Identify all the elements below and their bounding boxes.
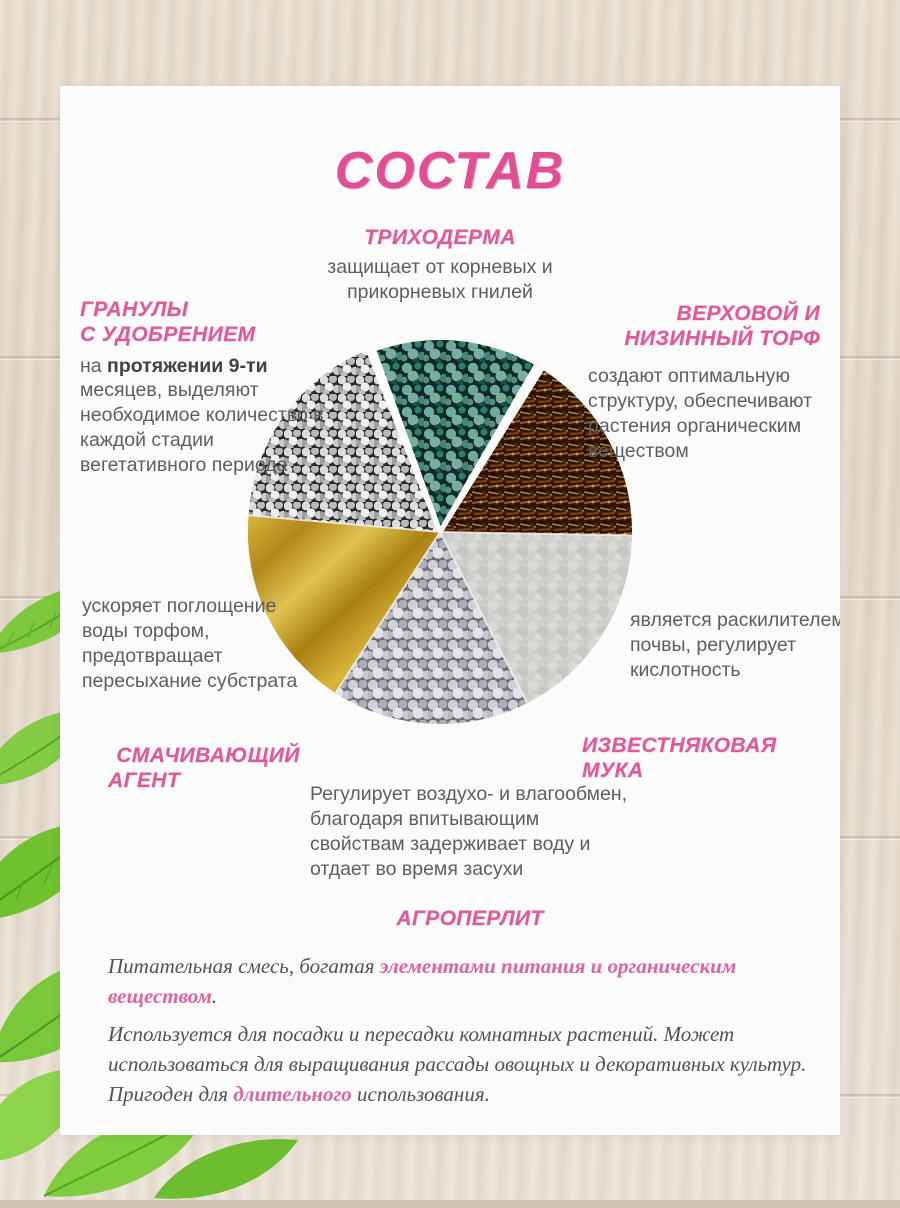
label-granules: ГРАНУЛЫ С УДОБРЕНИЕМ на протяжении 9-ти … <box>80 298 332 478</box>
heading-wetting-agent-line1: СМАЧИВАЮЩИЙ <box>82 744 334 769</box>
heading-granules-line2: С УДОБРЕНИЕМ <box>80 323 332 348</box>
body-granules-bold: протяжении 9-ти <box>107 355 268 377</box>
heading-peat-line2: НИЗИННЫЙ ТОРФ <box>548 327 820 352</box>
label-wetting-agent-body: ускоряет поглощение воды торфом, предотв… <box>82 594 314 694</box>
label-limestone-body: является раскилителем почвы, регулирует … <box>630 608 840 683</box>
body-perlite: Регулирует воздухо- и влагообмен, благод… <box>310 782 630 882</box>
heading-peat-line1: ВЕРХОВОЙ И <box>548 302 820 327</box>
body-peat: создают оптимальную структуру, обеспечив… <box>588 364 820 464</box>
label-limestone-heading: ИЗВЕСТНЯКОВАЯ МУКА <box>582 734 840 784</box>
leaf-decoration <box>152 1128 302 1208</box>
body-wetting-agent: ускоряет поглощение воды торфом, предотв… <box>82 594 314 694</box>
label-peat-heading: ВЕРХОВОЙ И НИЗИННЫЙ ТОРФ <box>548 302 820 352</box>
footer-2-plain-b: использования. <box>352 1082 490 1106</box>
label-trichoderma: ТРИХОДЕРМА защищает от корневых и прикор… <box>275 226 605 305</box>
footer-2-highlight: длительного <box>233 1082 352 1106</box>
label-perlite-body: Регулирует воздухо- и влагообмен, благод… <box>310 782 630 882</box>
body-limestone: является раскилителем почвы, регулирует … <box>630 608 840 683</box>
body-granules-prefix: на <box>80 355 107 377</box>
label-wetting-agent-heading: СМАЧИВАЮЩИЙ АГЕНТ <box>82 744 334 794</box>
heading-perlite: АГРОПЕРЛИТ <box>310 907 630 932</box>
heading-trichoderma: ТРИХОДЕРМА <box>275 226 605 251</box>
footer-1-plain-b: . <box>212 984 217 1008</box>
footer-paragraph-2: Используется для посадки и пересадки ком… <box>108 1020 814 1109</box>
label-perlite-heading: АГРОПЕРЛИТ <box>310 907 630 932</box>
heading-wetting-agent-line2: АГЕНТ <box>82 769 334 794</box>
heading-limestone-line1: ИЗВЕСТНЯКОВАЯ <box>582 734 840 759</box>
infographic-card: СОСТАВ <box>60 86 840 1135</box>
heading-limestone-line2: МУКА <box>582 759 840 784</box>
footer-1-plain-a: Питательная смесь, богатая <box>108 954 380 978</box>
label-peat-body: создают оптимальную структуру, обеспечив… <box>588 364 820 464</box>
body-granules-rest: месяцев, выделяют необходимое количество… <box>80 379 324 476</box>
heading-granules-line1: ГРАНУЛЫ <box>80 298 332 323</box>
page-title: СОСТАВ <box>60 141 840 201</box>
body-granules: на протяжении 9-ти месяцев, выделяют нео… <box>80 354 332 479</box>
footer-paragraph-1: Питательная смесь, богатая элементами пи… <box>108 952 814 1012</box>
